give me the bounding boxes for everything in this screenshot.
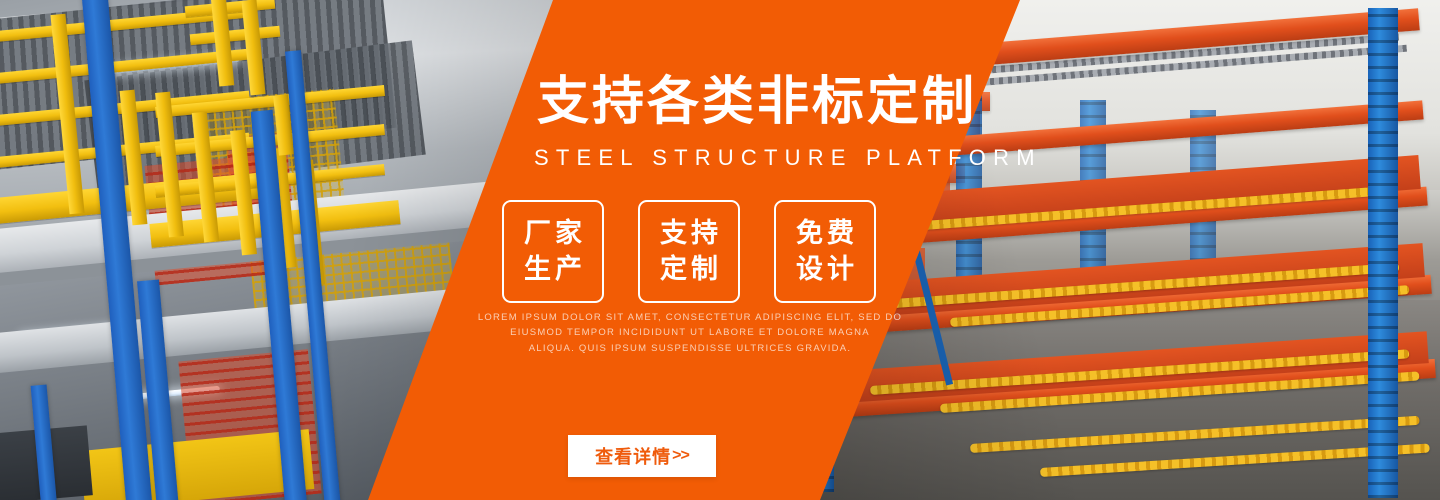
promo-banner: 支持各类非标定制 STEEL STRUCTURE PLATFORM 厂家 生产 …: [0, 0, 1440, 500]
description-text: LOREM IPSUM DOLOR SIT AMET, CONSECTETUR …: [455, 310, 925, 356]
badge-line-1: 免费: [792, 216, 858, 252]
chevron-right-icon: >>: [672, 447, 689, 465]
badge-customization[interactable]: 支持 定制: [638, 200, 740, 303]
feature-badges: 厂家 生产 支持 定制 免费 设计: [502, 200, 876, 303]
page-subtitle: STEEL STRUCTURE PLATFORM: [534, 145, 1042, 171]
view-details-button[interactable]: 查看详情 >>: [568, 435, 716, 477]
badge-line-2: 生产: [520, 252, 586, 288]
page-title: 支持各类非标定制: [537, 76, 977, 128]
badge-line-2: 定制: [656, 252, 722, 288]
description-line-2: EIUSMOD TEMPOR INCIDIDUNT UT LABORE ET D…: [455, 325, 925, 340]
badge-line-1: 支持: [656, 216, 722, 252]
description-line-1: LOREM IPSUM DOLOR SIT AMET, CONSECTETUR …: [455, 310, 925, 325]
view-details-label: 查看详情: [595, 443, 671, 469]
description-line-3: ALIQUA. QUIS IPSUM SUSPENDISSE ULTRICES …: [455, 341, 925, 356]
badge-line-2: 设计: [792, 252, 858, 288]
badge-manufacturer[interactable]: 厂家 生产: [502, 200, 604, 303]
banner-content: 支持各类非标定制 STEEL STRUCTURE PLATFORM 厂家 生产 …: [0, 0, 1440, 500]
badge-line-1: 厂家: [520, 216, 586, 252]
badge-free-design[interactable]: 免费 设计: [774, 200, 876, 303]
